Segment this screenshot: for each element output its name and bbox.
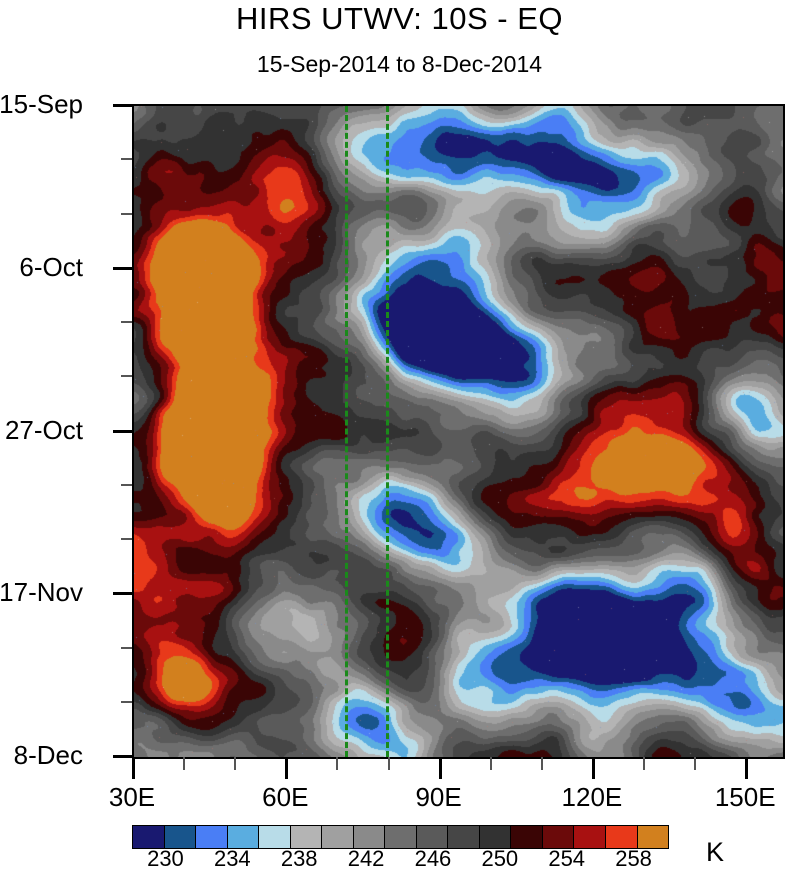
x-tick-label: 150E <box>715 783 776 811</box>
colorbar-tick-label: 234 <box>214 848 251 870</box>
colorbar-swatch <box>291 826 323 848</box>
colorbar-unit-label: K <box>706 838 724 866</box>
y-tick-label: 17-Nov <box>0 579 83 605</box>
colorbar-swatch <box>165 826 197 848</box>
x-tick-minor <box>336 757 338 770</box>
colorbar-swatch <box>196 826 228 848</box>
colorbar-swatch <box>574 826 606 848</box>
y-tick-minor <box>121 375 132 377</box>
colorbar-tick-label: 246 <box>415 848 452 870</box>
colorbar-tick-label: 258 <box>615 848 652 870</box>
y-tick-label: 8-Dec <box>14 742 83 768</box>
x-tick-major <box>745 757 748 779</box>
colorbar-tick-label: 250 <box>481 848 518 870</box>
y-tick-major <box>113 430 132 433</box>
y-tick-major <box>113 592 132 595</box>
colorbar-swatch <box>606 826 638 848</box>
subtitle: 15-Sep-2014 to 8-Dec-2014 <box>0 50 799 78</box>
y-tick-minor <box>121 701 132 703</box>
colorbar-swatch <box>228 826 260 848</box>
colorbar-swatch <box>259 826 291 848</box>
page-title: HIRS UTWV: 10S - EQ <box>0 0 799 38</box>
x-tick-major <box>592 757 595 779</box>
x-tick-minor <box>541 757 543 770</box>
colorbar-swatch <box>133 826 165 848</box>
y-tick-label: 27-Oct <box>5 417 83 443</box>
y-tick-label: 6-Oct <box>19 254 83 280</box>
colorbar-swatch <box>448 826 480 848</box>
colorbar-swatch <box>511 826 543 848</box>
colorbar-tick-label: 254 <box>548 848 585 870</box>
x-tick-minor <box>490 757 492 770</box>
y-tick-major <box>113 104 132 107</box>
y-tick-minor <box>121 213 132 215</box>
y-tick-label: 15-Sep <box>0 91 83 117</box>
y-tick-major <box>113 267 132 270</box>
hovmoller-field <box>134 106 783 757</box>
x-tick-minor <box>694 757 696 770</box>
y-tick-minor <box>121 321 132 323</box>
colorbar-tick-label: 238 <box>281 848 318 870</box>
colorbar <box>132 825 669 849</box>
y-tick-minor <box>121 484 132 486</box>
y-tick-minor <box>121 158 132 160</box>
x-tick-major <box>132 757 135 779</box>
annotation-line-east <box>386 106 389 757</box>
y-tick-minor <box>121 647 132 649</box>
x-tick-label: 120E <box>562 783 623 811</box>
colorbar-swatch <box>543 826 575 848</box>
y-tick-minor <box>121 538 132 540</box>
colorbar-swatch <box>385 826 417 848</box>
colorbar-tick-label: 242 <box>348 848 385 870</box>
annotation-line-west <box>345 106 348 757</box>
x-tick-minor <box>388 757 390 770</box>
colorbar-swatch <box>417 826 449 848</box>
x-tick-minor <box>183 757 185 770</box>
x-tick-label: 90E <box>415 783 461 811</box>
hovmoller-figure: HIRS UTWV: 10S - EQ 15-Sep-2014 to 8-Dec… <box>0 0 799 869</box>
x-tick-major <box>285 757 288 779</box>
x-tick-label: 30E <box>109 783 155 811</box>
colorbar-swatch <box>354 826 386 848</box>
x-tick-major <box>439 757 442 779</box>
x-tick-label: 60E <box>262 783 308 811</box>
colorbar-tick-label: 230 <box>147 848 184 870</box>
plot-area <box>132 104 785 759</box>
y-tick-major <box>113 755 132 758</box>
x-tick-minor <box>234 757 236 770</box>
x-tick-minor <box>643 757 645 770</box>
colorbar-swatch <box>480 826 512 848</box>
colorbar-swatch <box>638 826 669 848</box>
colorbar-swatch <box>322 826 354 848</box>
